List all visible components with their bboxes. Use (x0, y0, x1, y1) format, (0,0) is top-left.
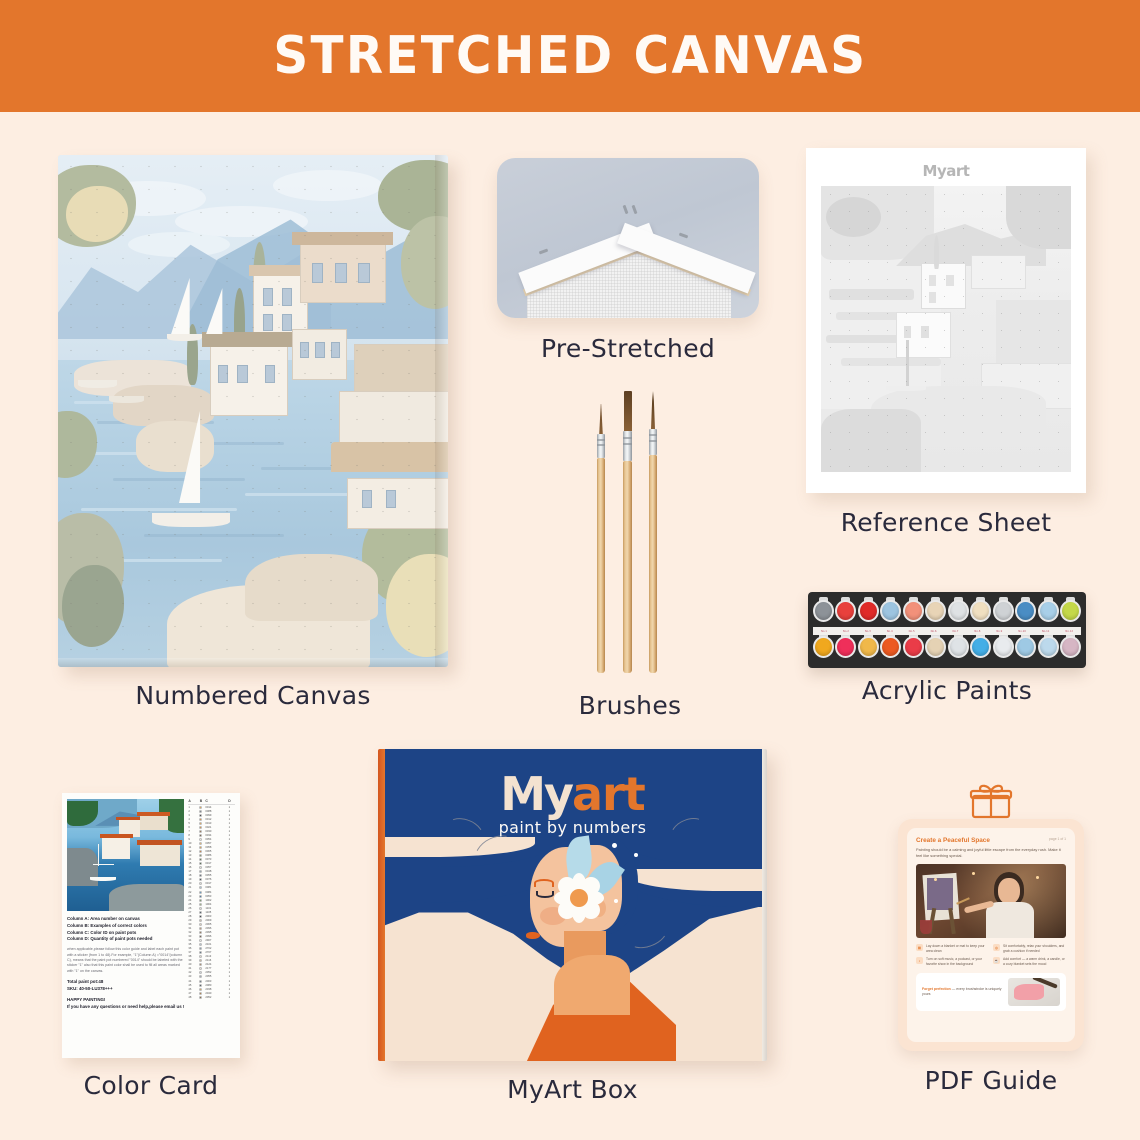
cell-area-number: 46 (188, 988, 196, 991)
paint-pot-body (948, 636, 969, 658)
color-swatch (199, 818, 202, 821)
cell-area-number: 23 (188, 895, 196, 898)
cell-color-swatch (196, 975, 205, 978)
cell-quantity: 1 (225, 975, 233, 978)
cell-quantity: 1 (225, 947, 233, 950)
color-table-row: 2711051 (188, 910, 235, 914)
color-swatch (199, 846, 202, 849)
tip-text: Sit comfortably, relax your shoulders, a… (1003, 944, 1065, 954)
cell-color-id: 2038 (205, 988, 225, 991)
paint-pot (1060, 633, 1081, 663)
paint-pot (880, 597, 901, 627)
color-table-row: 3921161 (188, 959, 235, 963)
thumb-building (102, 837, 130, 859)
legend-line: Column D: Quantity of paint pots needed (67, 936, 184, 943)
cell-color-swatch (196, 996, 205, 999)
cell-color-swatch (196, 814, 205, 817)
paint-pot (813, 597, 834, 627)
paint-pot (1060, 597, 1081, 627)
cell-color-id: 0073 (205, 858, 225, 861)
paint-pot (903, 633, 924, 663)
cell-quantity: 1 (225, 907, 233, 910)
pdf-guide-note: Forget perfection — every brushstroke is… (916, 973, 1066, 1011)
cell-color-id: 0057 (205, 866, 225, 869)
flower-center (570, 889, 588, 907)
cell-color-swatch (196, 992, 205, 995)
myart-box-image: Myart paint by numbers (378, 749, 767, 1061)
pre-stretched-label: Pre-Stretched (497, 334, 759, 363)
cell-color-id: 0034 (205, 834, 225, 837)
cell-quantity: 1 (225, 919, 233, 922)
cell-quantity: 1 (225, 874, 233, 877)
cell-area-number: 6 (188, 826, 196, 829)
thumb-roof (116, 817, 142, 820)
cell-color-id: 1101 (205, 907, 225, 910)
cell-area-number: 33 (188, 935, 196, 938)
cell-color-swatch (196, 943, 205, 946)
cell-color-swatch (196, 907, 205, 910)
page-header: STRETCHED CANVAS (0, 0, 1140, 112)
contact-text: If you have any questions or need help,p… (67, 1004, 184, 1009)
color-swatch (199, 992, 202, 995)
ferrule-band (649, 440, 657, 442)
numbered-canvas-label: Numbered Canvas (58, 681, 448, 710)
cell-quantity: 1 (225, 927, 233, 930)
note-bold: Forget perfection (922, 987, 951, 991)
color-table-row: 300991 (188, 813, 235, 817)
myart-box-item: Myart paint by numbers MyArt Box (378, 749, 767, 1061)
cell-area-number: 47 (188, 992, 196, 995)
cell-quantity: 1 (225, 818, 233, 821)
cell-color-id: 2080 (205, 984, 225, 987)
cell-color-id: 0088 (205, 810, 225, 813)
color-swatch (199, 870, 202, 873)
color-table-row: 1100581 (188, 845, 235, 849)
cell-area-number: 26 (188, 907, 196, 910)
cell-color-id: 1105 (205, 911, 225, 914)
cell-quantity: 1 (225, 891, 233, 894)
cell-color-swatch (196, 911, 205, 914)
color-table-row: 1200651 (188, 850, 235, 854)
brush-round (649, 401, 657, 673)
legend-text: Column D: Quantity of paint pots needed (67, 936, 152, 941)
paint-pot-body (858, 600, 879, 622)
color-swatch (199, 971, 202, 974)
paint-pot (993, 597, 1014, 627)
cell-quantity: 1 (225, 866, 233, 869)
numbered-canvas-image (58, 155, 448, 667)
color-table-row: 1700481 (188, 870, 235, 874)
paint-pot-body (1060, 600, 1081, 622)
cell-color-id: 0014 (205, 806, 225, 809)
contact-line: If you have any questions or need help,p… (67, 1004, 184, 1011)
cell-quantity: 1 (225, 878, 233, 881)
cell-quantity: 1 (225, 967, 233, 970)
cell-quantity: 1 (225, 886, 233, 889)
pdf-guide-heading: Create a Peaceful Space (916, 837, 1066, 844)
color-table-row: 3220951 (188, 930, 235, 934)
happy-painting-line: HAPPY PAINTING! (67, 997, 184, 1004)
cell-area-number: 25 (188, 903, 196, 906)
thumb-boat (90, 877, 116, 880)
cell-color-swatch (196, 919, 205, 922)
cell-area-number: 10 (188, 842, 196, 845)
reference-sheet-dots (821, 186, 1071, 472)
box-left-spine (378, 749, 385, 1061)
tip-icon: ◍ (993, 944, 1000, 951)
color-table-row: 3120961 (188, 926, 235, 930)
paint-pot-body (858, 636, 879, 658)
cell-color-id: 0054 (205, 838, 225, 841)
cell-area-number: 11 (188, 846, 196, 849)
color-swatch (199, 842, 202, 845)
color-swatch (199, 967, 202, 970)
pdf-guide-tip: ☕Add comfort — a warm drink, a candle, o… (993, 957, 1065, 967)
cell-area-number: 17 (188, 870, 196, 873)
cell-area-number: 7 (188, 830, 196, 833)
cell-area-number: 34 (188, 939, 196, 942)
paint-pot (835, 597, 856, 627)
cell-quantity: 1 (225, 971, 233, 974)
color-swatch (199, 858, 202, 861)
col-header-d: D (225, 799, 233, 803)
paint-pot (925, 633, 946, 663)
ferrule-band (649, 434, 657, 436)
brush-ferrule (649, 429, 657, 455)
color-table-row: 900541 (188, 837, 235, 841)
paint-pot-number-label: No.6 (931, 630, 937, 633)
eyebrow-shape (534, 879, 554, 887)
color-swatch (199, 903, 202, 906)
cell-area-number: 24 (188, 899, 196, 902)
cell-quantity: 1 (225, 850, 233, 853)
photo-painting (927, 878, 953, 910)
photo-wine-glass (920, 920, 932, 934)
sku-line: SKU: 40-50-LU378+++ (67, 986, 184, 993)
color-card-left-column: Column A: Area number on canvas Column B… (67, 799, 188, 1052)
color-table-row: 4320551 (188, 975, 235, 979)
gift-icon (969, 783, 1013, 824)
photo-shirt (986, 902, 1034, 938)
cell-quantity: 1 (225, 842, 233, 845)
cell-color-id: 2065 (205, 923, 225, 926)
sparkle-dot (634, 853, 638, 857)
thumb-roof (100, 834, 133, 838)
color-swatch (199, 927, 202, 930)
cell-color-swatch (196, 838, 205, 841)
color-swatch (199, 814, 202, 817)
color-swatch (199, 923, 202, 926)
brush-bristles (599, 404, 603, 434)
cell-color-id: 0058 (205, 846, 225, 849)
cell-quantity: 1 (225, 943, 233, 946)
sku-text: SKU: 40-50-LU378+++ (67, 986, 113, 991)
reference-sheet-label: Reference Sheet (806, 508, 1086, 537)
cell-area-number: 39 (188, 959, 196, 962)
color-table-row: 1600571 (188, 866, 235, 870)
paint-by-numbers-dots (58, 155, 448, 667)
cell-color-swatch (196, 830, 205, 833)
color-swatch (199, 988, 202, 991)
pdf-guide-item: Create a Peaceful Space page 1 of 1 Pain… (898, 783, 1084, 1051)
page-number: page 1 of 1 (1049, 837, 1066, 841)
cell-color-swatch (196, 988, 205, 991)
cell-color-id: 0055 (205, 874, 225, 877)
color-swatch (199, 907, 202, 910)
paint-pot-body (993, 600, 1014, 622)
cell-area-number: 37 (188, 951, 196, 954)
color-swatch (199, 931, 202, 934)
cell-color-swatch (196, 878, 205, 881)
cell-quantity: 1 (225, 895, 233, 898)
color-table-row: 2000171 (188, 882, 235, 886)
color-card-item: Column A: Area number on canvas Column B… (62, 793, 240, 1058)
tip-text: Lay down a blanket or mat to keep your a… (926, 944, 988, 954)
paint-pot-body (948, 600, 969, 622)
cell-color-id: 2907 (205, 939, 225, 942)
color-table-row: 2300531 (188, 894, 235, 898)
cell-color-swatch (196, 895, 205, 898)
cell-color-swatch (196, 980, 205, 983)
cell-color-swatch (196, 891, 205, 894)
cell-color-id: 0012 (205, 818, 225, 821)
paint-pot-number-label: No.8 (974, 630, 980, 633)
paint-pot (993, 633, 1014, 663)
color-card-artwork-thumbnail (67, 799, 184, 911)
color-table-body: 1001412008813009914001215001316002117003… (188, 805, 235, 999)
cell-area-number: 5 (188, 822, 196, 825)
color-table-row: 2510041 (188, 902, 235, 906)
thumb-sail (93, 864, 114, 865)
pdf-guide-tips: ▦Lay down a blanket or mat to keep your … (916, 944, 1066, 967)
pdf-guide-page: Create a Peaceful Space page 1 of 1 Pain… (907, 828, 1075, 1042)
paint-pot-body (903, 636, 924, 658)
color-card-legend: Column A: Area number on canvas Column B… (67, 916, 184, 943)
brush-flat (623, 391, 632, 673)
color-card-paper: Column A: Area number on canvas Column B… (62, 793, 240, 1058)
total-paint-pot-text: Total paint pot:48 (67, 979, 103, 984)
cell-color-id: 2113 (205, 955, 225, 958)
myart-logo: Myart paint by numbers (378, 767, 767, 837)
cell-area-number: 20 (188, 882, 196, 885)
cell-quantity: 1 (225, 911, 233, 914)
cell-color-id: 0021 (205, 826, 225, 829)
cell-color-swatch (196, 850, 205, 853)
cell-area-number: 41 (188, 967, 196, 970)
color-swatch (199, 911, 202, 914)
color-table-row: 2820031 (188, 914, 235, 918)
cell-color-swatch (196, 810, 205, 813)
cell-area-number: 35 (188, 943, 196, 946)
paint-pot-number-label: No.7 (953, 630, 959, 633)
thumb-building (140, 815, 168, 831)
color-swatch (199, 886, 202, 889)
brush-handle (623, 461, 632, 673)
color-table-row: 2200841 (188, 890, 235, 894)
cell-color-id: 0013 (205, 822, 225, 825)
pdf-guide-label: PDF Guide (898, 1066, 1084, 1095)
paint-pot (948, 597, 969, 627)
cell-color-swatch (196, 899, 205, 902)
cell-color-id: 2096 (205, 935, 225, 938)
cell-color-id: 0084 (205, 891, 225, 894)
paint-pot-number-label: No.12 (1065, 630, 1073, 633)
color-table-row: 3627021 (188, 947, 235, 951)
cell-area-number: 27 (188, 911, 196, 914)
cell-quantity: 1 (225, 959, 233, 962)
ferrule-band (597, 439, 605, 441)
sparkle-dot (614, 899, 618, 903)
color-swatch (199, 963, 202, 966)
cell-quantity: 1 (225, 923, 233, 926)
thumb-roof (137, 840, 182, 844)
cell-color-id: 0099 (205, 814, 225, 817)
cell-color-id: 0081 (205, 886, 225, 889)
paint-pot (1015, 633, 1036, 663)
cell-area-number: 2 (188, 810, 196, 813)
cell-quantity: 1 (225, 858, 233, 861)
paint-pot-body (1015, 636, 1036, 658)
cell-color-id: 2055 (205, 975, 225, 978)
color-table-row: 1800551 (188, 874, 235, 878)
color-card-label: Color Card (62, 1071, 240, 1100)
cell-color-id: 0017 (205, 882, 225, 885)
paint-pot-body (1060, 636, 1081, 658)
cell-area-number: 42 (188, 971, 196, 974)
cell-quantity: 1 (225, 899, 233, 902)
cell-quantity: 1 (225, 992, 233, 995)
color-table-row: 800341 (188, 833, 235, 837)
cell-color-swatch (196, 818, 205, 821)
color-table-row: 4121771 (188, 967, 235, 971)
cell-area-number: 18 (188, 874, 196, 877)
paint-pot (880, 633, 901, 663)
cell-color-id: 0076 (205, 878, 225, 881)
logo-subtitle: paint by numbers (378, 818, 767, 837)
heading-accent: Create (916, 837, 936, 844)
color-table-row: 500131 (188, 821, 235, 825)
cell-area-number: 29 (188, 919, 196, 922)
color-swatch (199, 996, 202, 999)
cell-quantity: 1 (225, 814, 233, 817)
logo-my-text: My (500, 767, 572, 821)
paint-pot (858, 633, 879, 663)
paint-pot (903, 597, 924, 627)
shoulder-shape (554, 955, 630, 1015)
color-table-row: 2410021 (188, 898, 235, 902)
cell-color-id: 0086 (205, 854, 225, 857)
brush-bristles (624, 391, 632, 431)
paint-pot-body (880, 636, 901, 658)
staple-icon (623, 205, 629, 214)
color-swatch (199, 947, 202, 950)
brush-liner (597, 421, 605, 673)
cell-color-swatch (196, 854, 205, 857)
pdf-guide-tip: ♪Turn on soft music, a podcast, or your … (916, 957, 988, 967)
brush-handle (649, 455, 657, 673)
pdf-guide-tablet: Create a Peaceful Space page 1 of 1 Pain… (898, 819, 1084, 1051)
legend-line: Column A: Area number on canvas (67, 916, 184, 923)
cell-color-swatch (196, 858, 205, 861)
color-table-row: 3020651 (188, 922, 235, 926)
canvas-wrapped-edge (435, 155, 448, 667)
paint-pot (813, 633, 834, 663)
cell-color-id: 0053 (205, 895, 225, 898)
legend-line: Column C: Color ID on paint pots (67, 930, 184, 937)
cell-quantity: 1 (225, 834, 233, 837)
color-table-row: 3429071 (188, 939, 235, 943)
cell-area-number: 45 (188, 984, 196, 987)
ferrule-band (623, 443, 632, 445)
paint-pot-body (835, 636, 856, 658)
cell-color-id: 1002 (205, 899, 225, 902)
cell-color-id: 2052 (205, 996, 225, 999)
cell-area-number: 28 (188, 915, 196, 918)
cell-color-id: 2101 (205, 943, 225, 946)
paint-pot-body (993, 636, 1014, 658)
cell-quantity: 1 (225, 951, 233, 954)
canvas-wrapped-edge-bottom (58, 658, 448, 667)
cell-color-id: 2177 (205, 967, 225, 970)
cell-area-number: 9 (188, 838, 196, 841)
color-swatch (199, 874, 202, 877)
color-swatch (199, 951, 202, 954)
color-table-row: 200881 (188, 809, 235, 813)
cell-color-id: 1004 (205, 903, 225, 906)
legend-text: Column C: Color ID on paint pots (67, 930, 136, 935)
color-table-row: 4620381 (188, 987, 235, 991)
cell-color-id: 2052 (205, 971, 225, 974)
paint-pot (1015, 597, 1036, 627)
thumb-rock (67, 848, 98, 886)
tip-text: Add comfort — a warm drink, a candle, or… (1003, 957, 1065, 967)
color-table-row: 100141 (188, 805, 235, 809)
pre-stretched-item: Pre-Stretched (497, 158, 759, 318)
cell-area-number: 40 (188, 963, 196, 966)
paint-pot-body (813, 636, 834, 658)
paint-pot (970, 597, 991, 627)
color-swatch (199, 810, 202, 813)
paint-swatch (1014, 984, 1044, 1000)
cell-color-swatch (196, 842, 205, 845)
cell-area-number: 14 (188, 858, 196, 861)
cell-color-id: 2095 (205, 931, 225, 934)
color-swatch (199, 895, 202, 898)
cell-color-swatch (196, 886, 205, 889)
color-table-row: 4021241 (188, 963, 235, 967)
cell-quantity: 1 (225, 846, 233, 849)
paint-pot-body (813, 600, 834, 622)
cell-color-id: 0057 (205, 842, 225, 845)
color-table-row: 4420031 (188, 979, 235, 983)
cell-quantity: 1 (225, 822, 233, 825)
paint-label-strip: No.1No.2No.3No.4No.5No.6No.7No.8No.9No.1… (813, 627, 1081, 635)
color-table-row: 3821131 (188, 955, 235, 959)
cell-color-swatch (196, 931, 205, 934)
cell-color-swatch (196, 915, 205, 918)
reference-sheet-paper: Myart (806, 148, 1086, 493)
cell-area-number: 4 (188, 818, 196, 821)
box-right-spine (762, 749, 767, 1061)
color-table-row: 1500171 (188, 862, 235, 866)
paint-pot (858, 597, 879, 627)
color-swatch (199, 975, 202, 978)
paint-pot-body (925, 600, 946, 622)
sparkle-dot (612, 843, 617, 848)
tip-icon: ☕ (993, 957, 1000, 964)
color-swatch (199, 959, 202, 962)
thumb-roof (137, 812, 170, 815)
